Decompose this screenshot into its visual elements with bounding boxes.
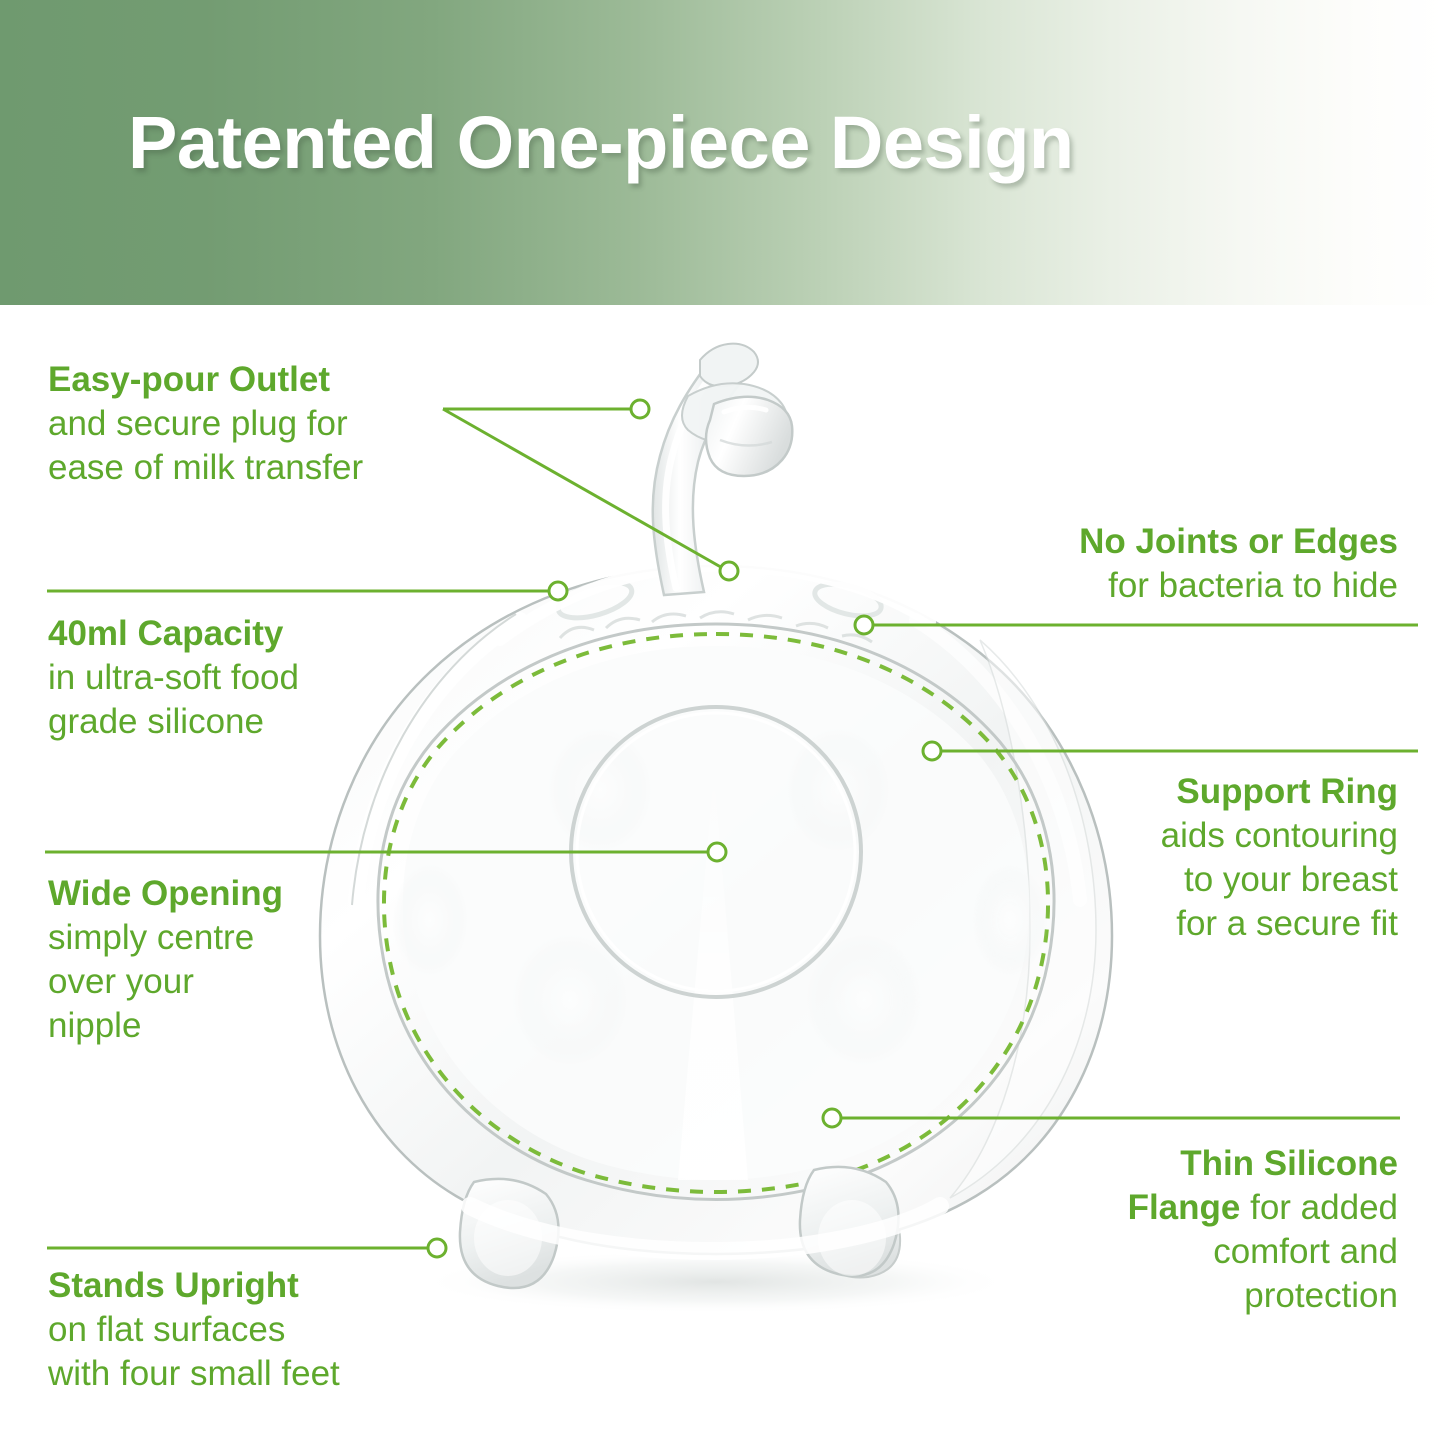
callout-support-ring: Support Ring aids contouring to your bre…: [1038, 770, 1398, 946]
leader-thin-flange: [823, 1109, 1400, 1127]
callout-wide-opening-line1: simply centre: [48, 916, 388, 960]
leader-capacity: [47, 582, 567, 600]
callout-thin-flange-line3: comfort and: [1038, 1230, 1398, 1274]
leader-wide-opening: [45, 843, 726, 861]
page-title: Patented One-piece Design: [128, 104, 1368, 182]
nipple-cone: [678, 770, 748, 1180]
callout-wide-opening-heading: Wide Opening: [48, 872, 388, 916]
emboss-oval-left: [554, 575, 635, 625]
leader-easy-pour-outlet: [443, 400, 738, 580]
callout-no-joints-line1: for bacteria to hide: [958, 564, 1398, 608]
header-banner: Patented One-piece Design: [0, 0, 1445, 305]
leader-support-ring: [923, 742, 1418, 760]
callout-stands-upright-line2: with four small feet: [48, 1352, 468, 1396]
internal-reflections: [392, 728, 1048, 1066]
callout-capacity: 40ml Capacity in ultra-soft food grade s…: [48, 612, 448, 744]
leader-stands-upright: [47, 1239, 446, 1257]
callout-thin-flange-inline: for added: [1240, 1188, 1398, 1227]
callout-capacity-heading: 40ml Capacity: [48, 612, 448, 656]
callout-wide-opening: Wide Opening simply centre over your nip…: [48, 872, 388, 1048]
callout-stands-upright-heading: Stands Upright: [48, 1264, 468, 1308]
callout-thin-flange-line4: protection: [1038, 1274, 1398, 1318]
callout-capacity-line2: grade silicone: [48, 700, 448, 744]
callout-easy-pour-line1: and secure plug for: [48, 402, 468, 446]
easy-pour-spout: [653, 344, 793, 595]
callout-thin-flange-line2: Flange for added: [1038, 1186, 1398, 1230]
top-rim-highlight: [500, 566, 930, 640]
callout-support-ring-line2: to your breast: [1038, 858, 1398, 902]
leader-no-joints: [855, 616, 1418, 634]
callout-easy-pour-outlet: Easy-pour Outlet and secure plug for eas…: [48, 358, 468, 490]
callout-support-ring-line1: aids contouring: [1038, 814, 1398, 858]
product-front-feet: [460, 1167, 899, 1288]
callout-easy-pour-heading: Easy-pour Outlet: [48, 358, 468, 402]
callout-capacity-line1: in ultra-soft food: [48, 656, 448, 700]
support-ring: [378, 624, 1054, 1200]
callout-easy-pour-line2: ease of milk transfer: [48, 446, 468, 490]
callout-no-joints-heading: No Joints or Edges: [958, 520, 1398, 564]
embossed-measurement-marks: [560, 612, 872, 642]
product-feet: [466, 1183, 900, 1278]
callout-thin-flange-heading-line2: Flange: [1128, 1188, 1241, 1227]
emboss-oval-right: [812, 578, 885, 622]
wide-opening-ring: [571, 707, 861, 997]
support-ring-dashed-trace: [384, 634, 1048, 1192]
callout-stands-upright: Stands Upright on flat surfaces with fou…: [48, 1264, 468, 1396]
callout-no-joints: No Joints or Edges for bacteria to hide: [958, 520, 1398, 608]
wide-opening-ring-inner: [577, 713, 855, 991]
callout-thin-flange-heading-line1: Thin Silicone: [1038, 1142, 1398, 1186]
bottom-sheen: [470, 1206, 940, 1251]
callout-support-ring-heading: Support Ring: [1038, 770, 1398, 814]
callout-wide-opening-line2: over your: [48, 960, 388, 1004]
callout-thin-flange: Thin Silicone Flange for added comfort a…: [1038, 1142, 1398, 1318]
infographic-page: Patented One-piece Design: [0, 0, 1445, 1445]
callout-stands-upright-line1: on flat surfaces: [48, 1308, 468, 1352]
product-shadow: [416, 1250, 1016, 1314]
callout-support-ring-line3: for a secure fit: [1038, 902, 1398, 946]
shell-cavity: [403, 646, 1029, 1180]
callout-wide-opening-line3: nipple: [48, 1004, 388, 1048]
